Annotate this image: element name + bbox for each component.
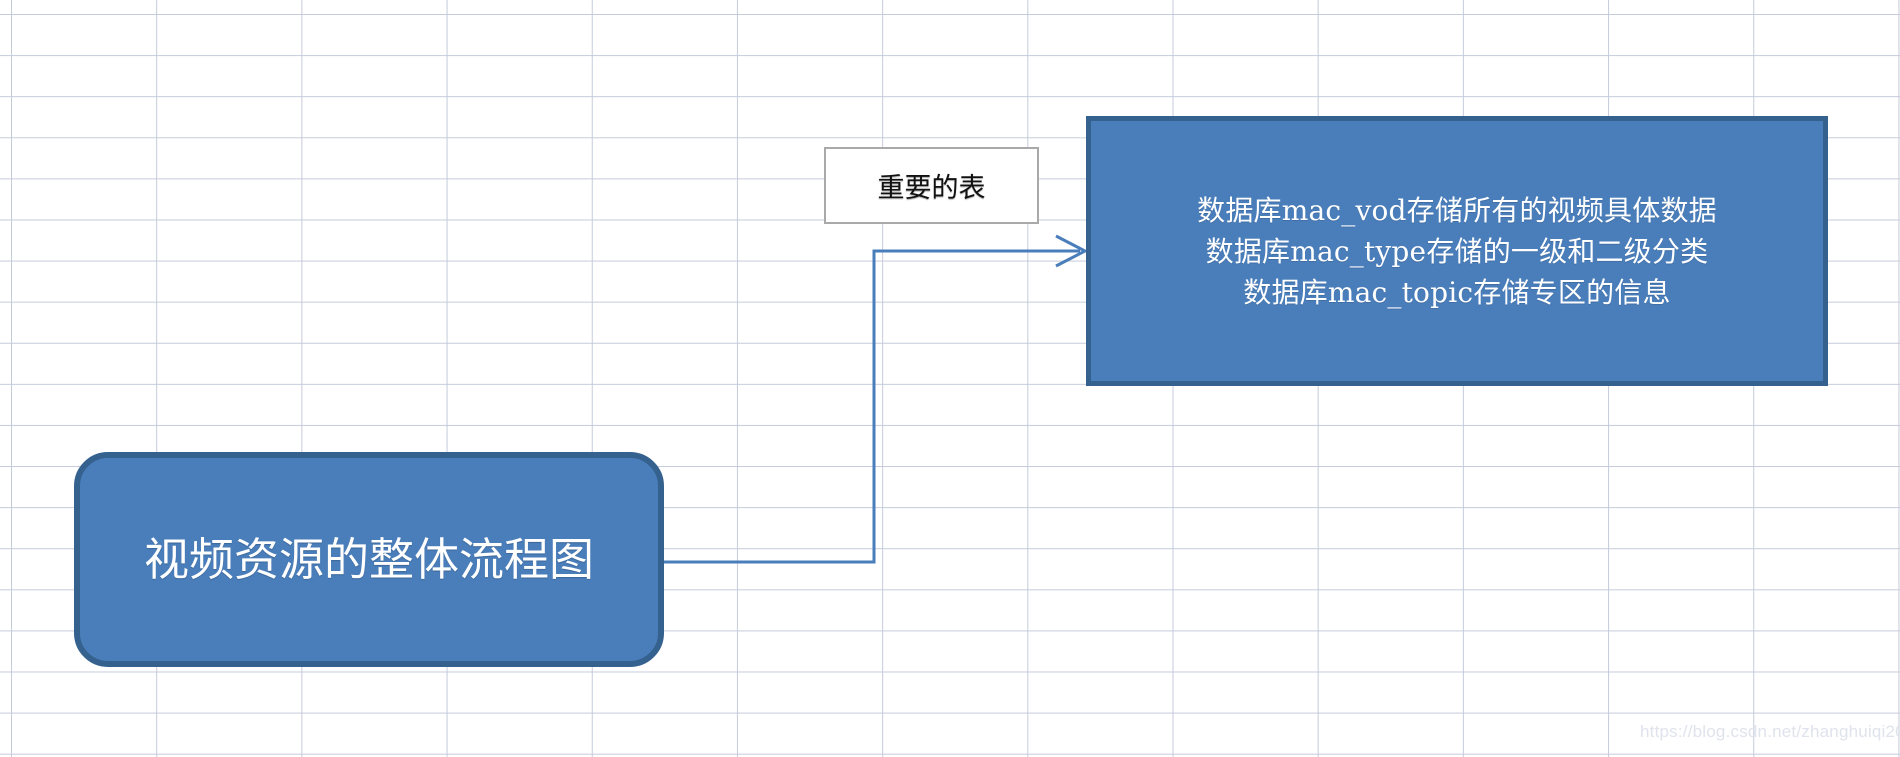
database-info-text: 数据库mac_vod存储所有的视频具体数据 数据库mac_type存储的一级和二…: [1197, 190, 1717, 313]
database-info-line-3: 数据库mac_topic存储专区的信息: [1197, 272, 1717, 313]
shapes-layer: 数据库mac_vod存储所有的视频具体数据 数据库mac_type存储的一级和二…: [0, 0, 1900, 757]
flow-title-label: 视频资源的整体流程图: [144, 534, 594, 586]
diagram-canvas: 数据库mac_vod存储所有的视频具体数据 数据库mac_type存储的一级和二…: [0, 0, 1900, 757]
important-tables-note-label: 重要的表: [878, 166, 986, 205]
important-tables-note[interactable]: 重要的表: [824, 147, 1039, 224]
database-info-line-2: 数据库mac_type存储的一级和二级分类: [1197, 231, 1717, 272]
database-info-line-1: 数据库mac_vod存储所有的视频具体数据: [1197, 190, 1717, 231]
database-info-box[interactable]: 数据库mac_vod存储所有的视频具体数据 数据库mac_type存储的一级和二…: [1086, 116, 1828, 386]
watermark-text: https://blog.csdn.net/zhanghuiqi205: [1640, 722, 1900, 742]
flow-title-shape[interactable]: 视频资源的整体流程图: [74, 452, 664, 667]
